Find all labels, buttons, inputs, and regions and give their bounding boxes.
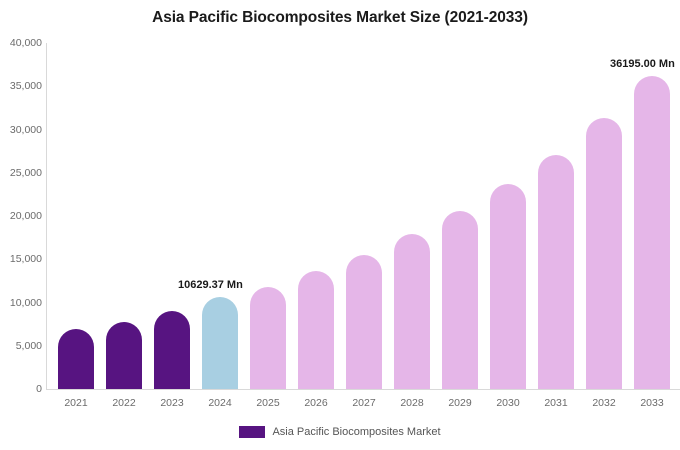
chart-container: Asia Pacific Biocomposites Market Size (… bbox=[0, 0, 680, 450]
bar-2022[interactable] bbox=[106, 322, 142, 389]
x-axis-tick-label-2026: 2026 bbox=[292, 396, 340, 410]
y-axis-tick-label: 0 bbox=[2, 384, 42, 394]
bar-2026[interactable] bbox=[298, 271, 334, 389]
bar-2021[interactable] bbox=[58, 329, 94, 389]
x-axis-tick-label-2031: 2031 bbox=[532, 396, 580, 410]
x-axis-tick-label-2024: 2024 bbox=[196, 396, 244, 410]
x-axis-tick-label-2021: 2021 bbox=[52, 396, 100, 410]
y-axis-tick-label: 5,000 bbox=[2, 341, 42, 351]
legend-label-asia-pacific-biocomposites-market: Asia Pacific Biocomposites Market bbox=[272, 426, 440, 438]
y-axis-tick-label: 40,000 bbox=[2, 38, 42, 48]
x-axis-line bbox=[46, 389, 680, 390]
bar-2031[interactable] bbox=[538, 155, 574, 389]
chart-legend: Asia Pacific Biocomposites Market bbox=[0, 426, 680, 438]
x-axis-tick-labels: 2021202220232024202520262027202820292030… bbox=[46, 396, 680, 414]
chart-title: Asia Pacific Biocomposites Market Size (… bbox=[0, 9, 680, 27]
bar-2033[interactable] bbox=[634, 76, 670, 389]
legend-swatch-asia-pacific-biocomposites-market bbox=[239, 426, 265, 438]
bar-value-label-2024: 10629.37 Mn bbox=[178, 279, 243, 291]
x-axis-tick-label-2033: 2033 bbox=[628, 396, 676, 410]
y-axis-tick-label: 25,000 bbox=[2, 168, 42, 178]
bar-2025[interactable] bbox=[250, 287, 286, 390]
y-axis-tick-label: 35,000 bbox=[2, 81, 42, 91]
bar-2023[interactable] bbox=[154, 311, 190, 389]
y-axis-tick-labels: 05,00010,00015,00020,00025,00030,00035,0… bbox=[0, 0, 42, 450]
x-axis-tick-label-2029: 2029 bbox=[436, 396, 484, 410]
x-axis-tick-label-2022: 2022 bbox=[100, 396, 148, 410]
x-axis-tick-label-2023: 2023 bbox=[148, 396, 196, 410]
x-axis-tick-label-2032: 2032 bbox=[580, 396, 628, 410]
x-axis-tick-label-2030: 2030 bbox=[484, 396, 532, 410]
bar-2028[interactable] bbox=[394, 234, 430, 389]
y-axis-tick-label: 30,000 bbox=[2, 125, 42, 135]
bar-2032[interactable] bbox=[586, 118, 622, 389]
y-axis-tick-label: 10,000 bbox=[2, 298, 42, 308]
bar-2027[interactable] bbox=[346, 255, 382, 390]
x-axis-tick-label-2025: 2025 bbox=[244, 396, 292, 410]
bars-layer: 10629.37 Mn36195.00 Mn bbox=[46, 43, 680, 389]
y-axis-tick-label: 15,000 bbox=[2, 254, 42, 264]
x-axis-tick-label-2028: 2028 bbox=[388, 396, 436, 410]
bar-2030[interactable] bbox=[490, 184, 526, 389]
bar-2029[interactable] bbox=[442, 211, 478, 389]
bar-2024[interactable] bbox=[202, 297, 238, 389]
y-axis-tick-label: 20,000 bbox=[2, 211, 42, 221]
bar-value-label-2033: 36195.00 Mn bbox=[610, 58, 675, 70]
x-axis-tick-label-2027: 2027 bbox=[340, 396, 388, 410]
